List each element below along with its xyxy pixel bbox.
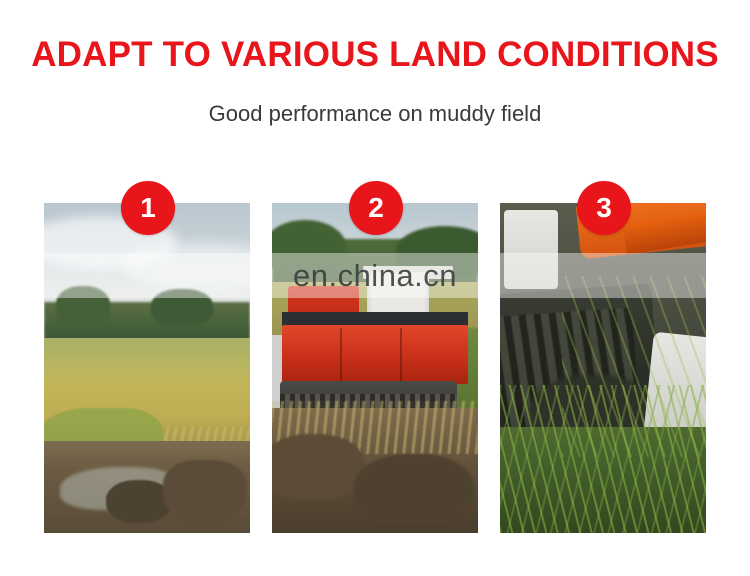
- step-badge-1: 1: [121, 181, 175, 235]
- promo-banner: ADAPT TO VARIOUS LAND CONDITIONS Good pe…: [0, 0, 750, 576]
- page-subtitle: Good performance on muddy field: [0, 100, 750, 128]
- grass-blades: [562, 276, 706, 458]
- harvester-body: [282, 325, 467, 384]
- harvester-panel-seam: [400, 328, 402, 381]
- watermark-text: en.china.cn: [0, 253, 750, 298]
- mud-clod: [106, 480, 172, 523]
- mud-clod: [272, 434, 365, 500]
- mud-clod: [354, 454, 473, 527]
- harvester-panel-seam: [340, 328, 342, 381]
- step-badge-3: 3: [577, 181, 631, 235]
- step-badge-2: 2: [349, 181, 403, 235]
- mud-clod: [163, 460, 245, 519]
- page-title: ADAPT TO VARIOUS LAND CONDITIONS: [0, 34, 750, 76]
